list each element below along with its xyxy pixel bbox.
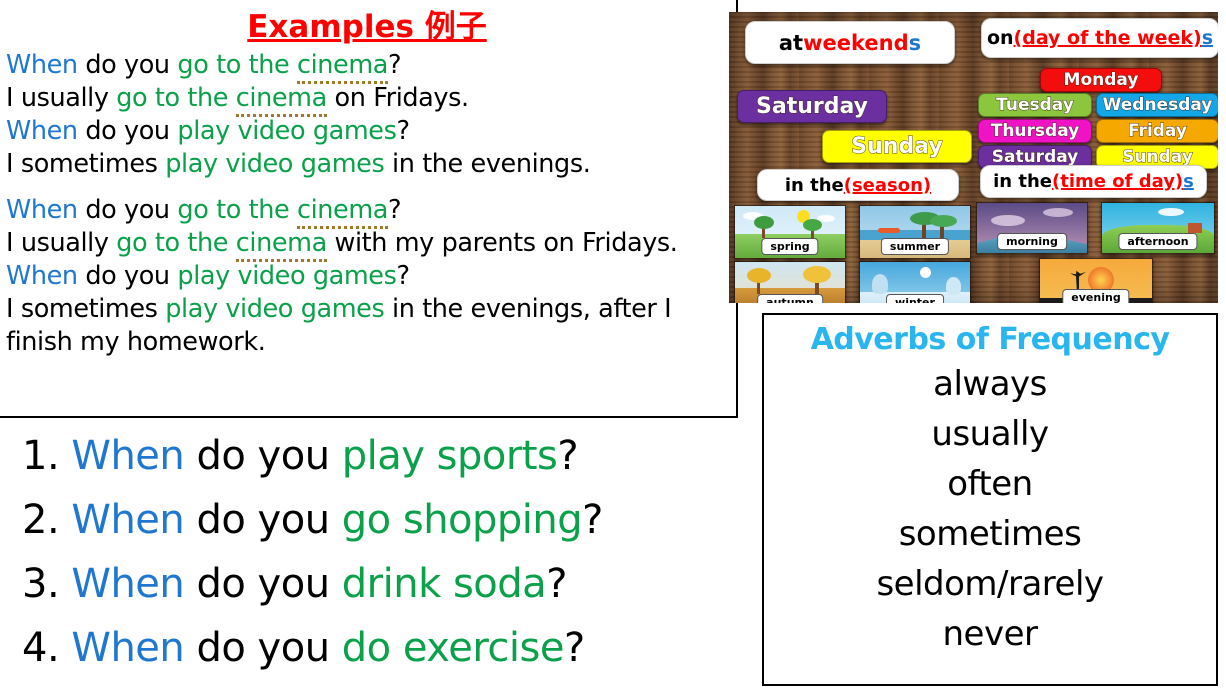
verb-phrase: do exercise bbox=[342, 625, 564, 671]
cloud-icon bbox=[991, 215, 1025, 226]
chip-label: Tuesday bbox=[996, 95, 1074, 115]
on-day-of-week-header: on (day of the week)s bbox=[981, 18, 1218, 58]
palm-crown bbox=[930, 215, 957, 227]
house-icon bbox=[1188, 223, 1202, 233]
thumb-caption: summer bbox=[881, 238, 949, 255]
season-thumb-summer[interactable]: summer bbox=[859, 205, 971, 259]
verb-phrase-spellchecked: cinema bbox=[236, 228, 327, 262]
question-middle: do you bbox=[184, 497, 342, 543]
sentence-text: in the evenings. bbox=[384, 149, 590, 179]
example-sentence: When do you go to the cinema? bbox=[6, 49, 728, 82]
question-mark: ? bbox=[564, 625, 585, 671]
adverb-item: always bbox=[764, 359, 1216, 409]
in-the-season-header: in the (season) bbox=[757, 169, 959, 201]
season-red: (season) bbox=[844, 175, 931, 196]
examples-title: Examples 例子 bbox=[6, 10, 728, 45]
weekends-blue: s bbox=[909, 31, 922, 55]
question-word: When bbox=[6, 261, 78, 291]
verb-phrase: go to the bbox=[116, 83, 236, 113]
verb-phrase: go to the bbox=[177, 195, 297, 225]
season-thumb-spring[interactable]: spring bbox=[734, 205, 846, 259]
question-middle: do you bbox=[184, 625, 342, 671]
example-sentence: When do you go to the cinema? bbox=[6, 194, 728, 227]
tree-crown bbox=[747, 268, 771, 283]
chip-label: Friday bbox=[1128, 121, 1187, 141]
cloud-icon bbox=[1043, 208, 1073, 217]
question-word: When bbox=[71, 561, 184, 607]
sentence-text: with my parents on Fridays. bbox=[327, 228, 678, 258]
question-number: 4. bbox=[22, 625, 71, 671]
sentence-text: ? bbox=[397, 261, 410, 291]
chip-weekend-saturday[interactable]: Saturday bbox=[737, 90, 887, 123]
question-number: 2. bbox=[22, 497, 71, 543]
weekends-red: weekend bbox=[803, 31, 909, 55]
thumb-caption: afternoon bbox=[1118, 233, 1197, 250]
chip-label: Sunday bbox=[851, 134, 942, 159]
adverb-item: often bbox=[764, 459, 1216, 509]
chip-day-tuesday[interactable]: Tuesday bbox=[978, 93, 1092, 117]
example-sentence: I usually go to the cinema with my paren… bbox=[6, 227, 728, 260]
practice-question: 4. When do you do exercise? bbox=[22, 616, 740, 680]
chip-label: Saturday bbox=[756, 94, 868, 119]
verb-phrase: play sports bbox=[342, 433, 558, 479]
chip-day-monday[interactable]: Monday bbox=[1040, 68, 1162, 92]
chip-label: Monday bbox=[1064, 70, 1139, 90]
question-word: When bbox=[6, 195, 78, 225]
cloud-icon bbox=[1158, 208, 1184, 216]
question-number: 1. bbox=[22, 433, 71, 479]
chip-day-thursday[interactable]: Thursday bbox=[978, 119, 1092, 143]
sentence-text: I usually bbox=[6, 228, 116, 258]
verb-phrase: go shopping bbox=[342, 497, 582, 543]
thumb-caption: evening bbox=[1062, 289, 1129, 303]
chip-day-wednesday[interactable]: Wednesday bbox=[1096, 93, 1218, 117]
season-thumb-autumn[interactable]: autumn bbox=[734, 261, 846, 303]
practice-question: 3. When do you drink soda? bbox=[22, 552, 740, 616]
tod-blue: s bbox=[1183, 171, 1194, 192]
thumb-caption: winter bbox=[886, 294, 944, 303]
snow-tree bbox=[946, 277, 961, 295]
question-number: 3. bbox=[22, 561, 71, 607]
tod-red: (time of day) bbox=[1052, 171, 1183, 192]
verb-phrase-spellchecked: cinema bbox=[297, 195, 388, 229]
example-sentence: I sometimes play video games in the even… bbox=[6, 293, 728, 359]
sentence-text: I sometimes bbox=[6, 294, 165, 324]
chip-label: Sunday bbox=[1122, 147, 1193, 167]
tod-black: in the bbox=[993, 171, 1052, 192]
verb-phrase-spellchecked: cinema bbox=[236, 83, 327, 117]
sentence-text: do you bbox=[78, 261, 178, 291]
examples-group-1: When do you go to the cinema?I usually g… bbox=[6, 49, 728, 181]
dow-blue: s bbox=[1202, 27, 1213, 49]
adverb-item: never bbox=[764, 609, 1216, 659]
dow-black: on bbox=[987, 27, 1014, 49]
question-word: When bbox=[71, 433, 184, 479]
thumb-caption: morning bbox=[997, 233, 1067, 250]
verb-phrase: go to the bbox=[116, 228, 236, 258]
time-expressions-poster: at weekends Saturday Sunday on (day of t… bbox=[729, 12, 1218, 303]
example-sentence: I usually go to the cinema on Fridays. bbox=[6, 82, 728, 115]
in-the-time-of-day-header: in the (time of day)s bbox=[980, 165, 1207, 198]
question-word: When bbox=[71, 497, 184, 543]
practice-question: 2. When do you go shopping? bbox=[22, 488, 740, 552]
adverbs-list: alwaysusuallyoftensometimesseldom/rarely… bbox=[764, 359, 1216, 659]
question-word: When bbox=[71, 625, 184, 671]
verb-phrase: drink soda bbox=[342, 561, 546, 607]
thumb-caption: autumn bbox=[757, 294, 823, 303]
moon-icon bbox=[920, 267, 931, 278]
beach-item bbox=[878, 228, 900, 233]
verb-phrase: play video games bbox=[165, 294, 384, 324]
question-word: When bbox=[6, 50, 78, 80]
tree-crown bbox=[803, 266, 831, 283]
adverb-item: usually bbox=[764, 409, 1216, 459]
adverbs-title: Adverbs of Frequency bbox=[764, 321, 1216, 359]
season-thumb-winter[interactable]: winter bbox=[859, 261, 971, 303]
sentence-text: do you bbox=[78, 50, 178, 80]
practice-questions-list: 1. When do you play sports?2. When do yo… bbox=[0, 424, 740, 692]
chip-weekend-sunday[interactable]: Sunday bbox=[822, 130, 972, 163]
example-sentence: When do you play video games? bbox=[6, 115, 728, 148]
snow-tree bbox=[872, 274, 888, 294]
sentence-text: ? bbox=[388, 195, 401, 225]
example-sentence: When do you play video games? bbox=[6, 260, 728, 293]
question-mark: ? bbox=[582, 497, 603, 543]
time-thumb-evening[interactable]: evening bbox=[1039, 258, 1153, 303]
season-black: in the bbox=[785, 175, 844, 196]
verb-phrase: go to the bbox=[177, 50, 297, 80]
at-weekends-header: at weekends bbox=[745, 21, 955, 64]
tree-crown bbox=[754, 216, 774, 229]
slide-canvas: Examples 例子 When do you go to the cinema… bbox=[0, 0, 1226, 692]
question-word: When bbox=[6, 116, 78, 146]
adverb-item: seldom/rarely bbox=[764, 559, 1216, 609]
thumb-caption: spring bbox=[761, 238, 818, 255]
sentence-text: I sometimes bbox=[6, 149, 165, 179]
sentence-text: ? bbox=[397, 116, 410, 146]
example-sentence: I sometimes play video games in the even… bbox=[6, 148, 728, 181]
time-thumb-morning[interactable]: morning bbox=[976, 202, 1088, 254]
question-mark: ? bbox=[557, 433, 578, 479]
verb-phrase: play video games bbox=[177, 116, 396, 146]
verb-phrase: play video games bbox=[177, 261, 396, 291]
chip-label: Thursday bbox=[991, 121, 1080, 141]
examples-group-2: When do you go to the cinema?I usually g… bbox=[6, 194, 728, 359]
weekends-black: at bbox=[779, 31, 803, 55]
sentence-text: on Fridays. bbox=[327, 83, 469, 113]
examples-panel: Examples 例子 When do you go to the cinema… bbox=[0, 0, 738, 418]
paragraph-spacer bbox=[6, 181, 728, 194]
chip-day-friday[interactable]: Friday bbox=[1096, 119, 1218, 143]
dow-red: (day of the week) bbox=[1014, 27, 1202, 49]
adverb-item: sometimes bbox=[764, 509, 1216, 559]
question-middle: do you bbox=[184, 561, 342, 607]
chip-label: Wednesday bbox=[1103, 95, 1213, 115]
question-middle: do you bbox=[184, 433, 342, 479]
time-thumb-afternoon[interactable]: afternoon bbox=[1101, 202, 1215, 254]
sentence-text: I usually bbox=[6, 83, 116, 113]
adverbs-of-frequency-panel: Adverbs of Frequency alwaysusuallyoftens… bbox=[762, 313, 1218, 686]
sentence-text: do you bbox=[78, 195, 178, 225]
sentence-text: do you bbox=[78, 116, 178, 146]
chip-label: Saturday bbox=[992, 147, 1079, 167]
tree-crown bbox=[803, 219, 822, 231]
question-mark: ? bbox=[546, 561, 567, 607]
verb-phrase: play video games bbox=[165, 149, 384, 179]
sentence-text: ? bbox=[388, 50, 401, 80]
verb-phrase-spellchecked: cinema bbox=[297, 50, 388, 84]
practice-question: 1. When do you play sports? bbox=[22, 424, 740, 488]
